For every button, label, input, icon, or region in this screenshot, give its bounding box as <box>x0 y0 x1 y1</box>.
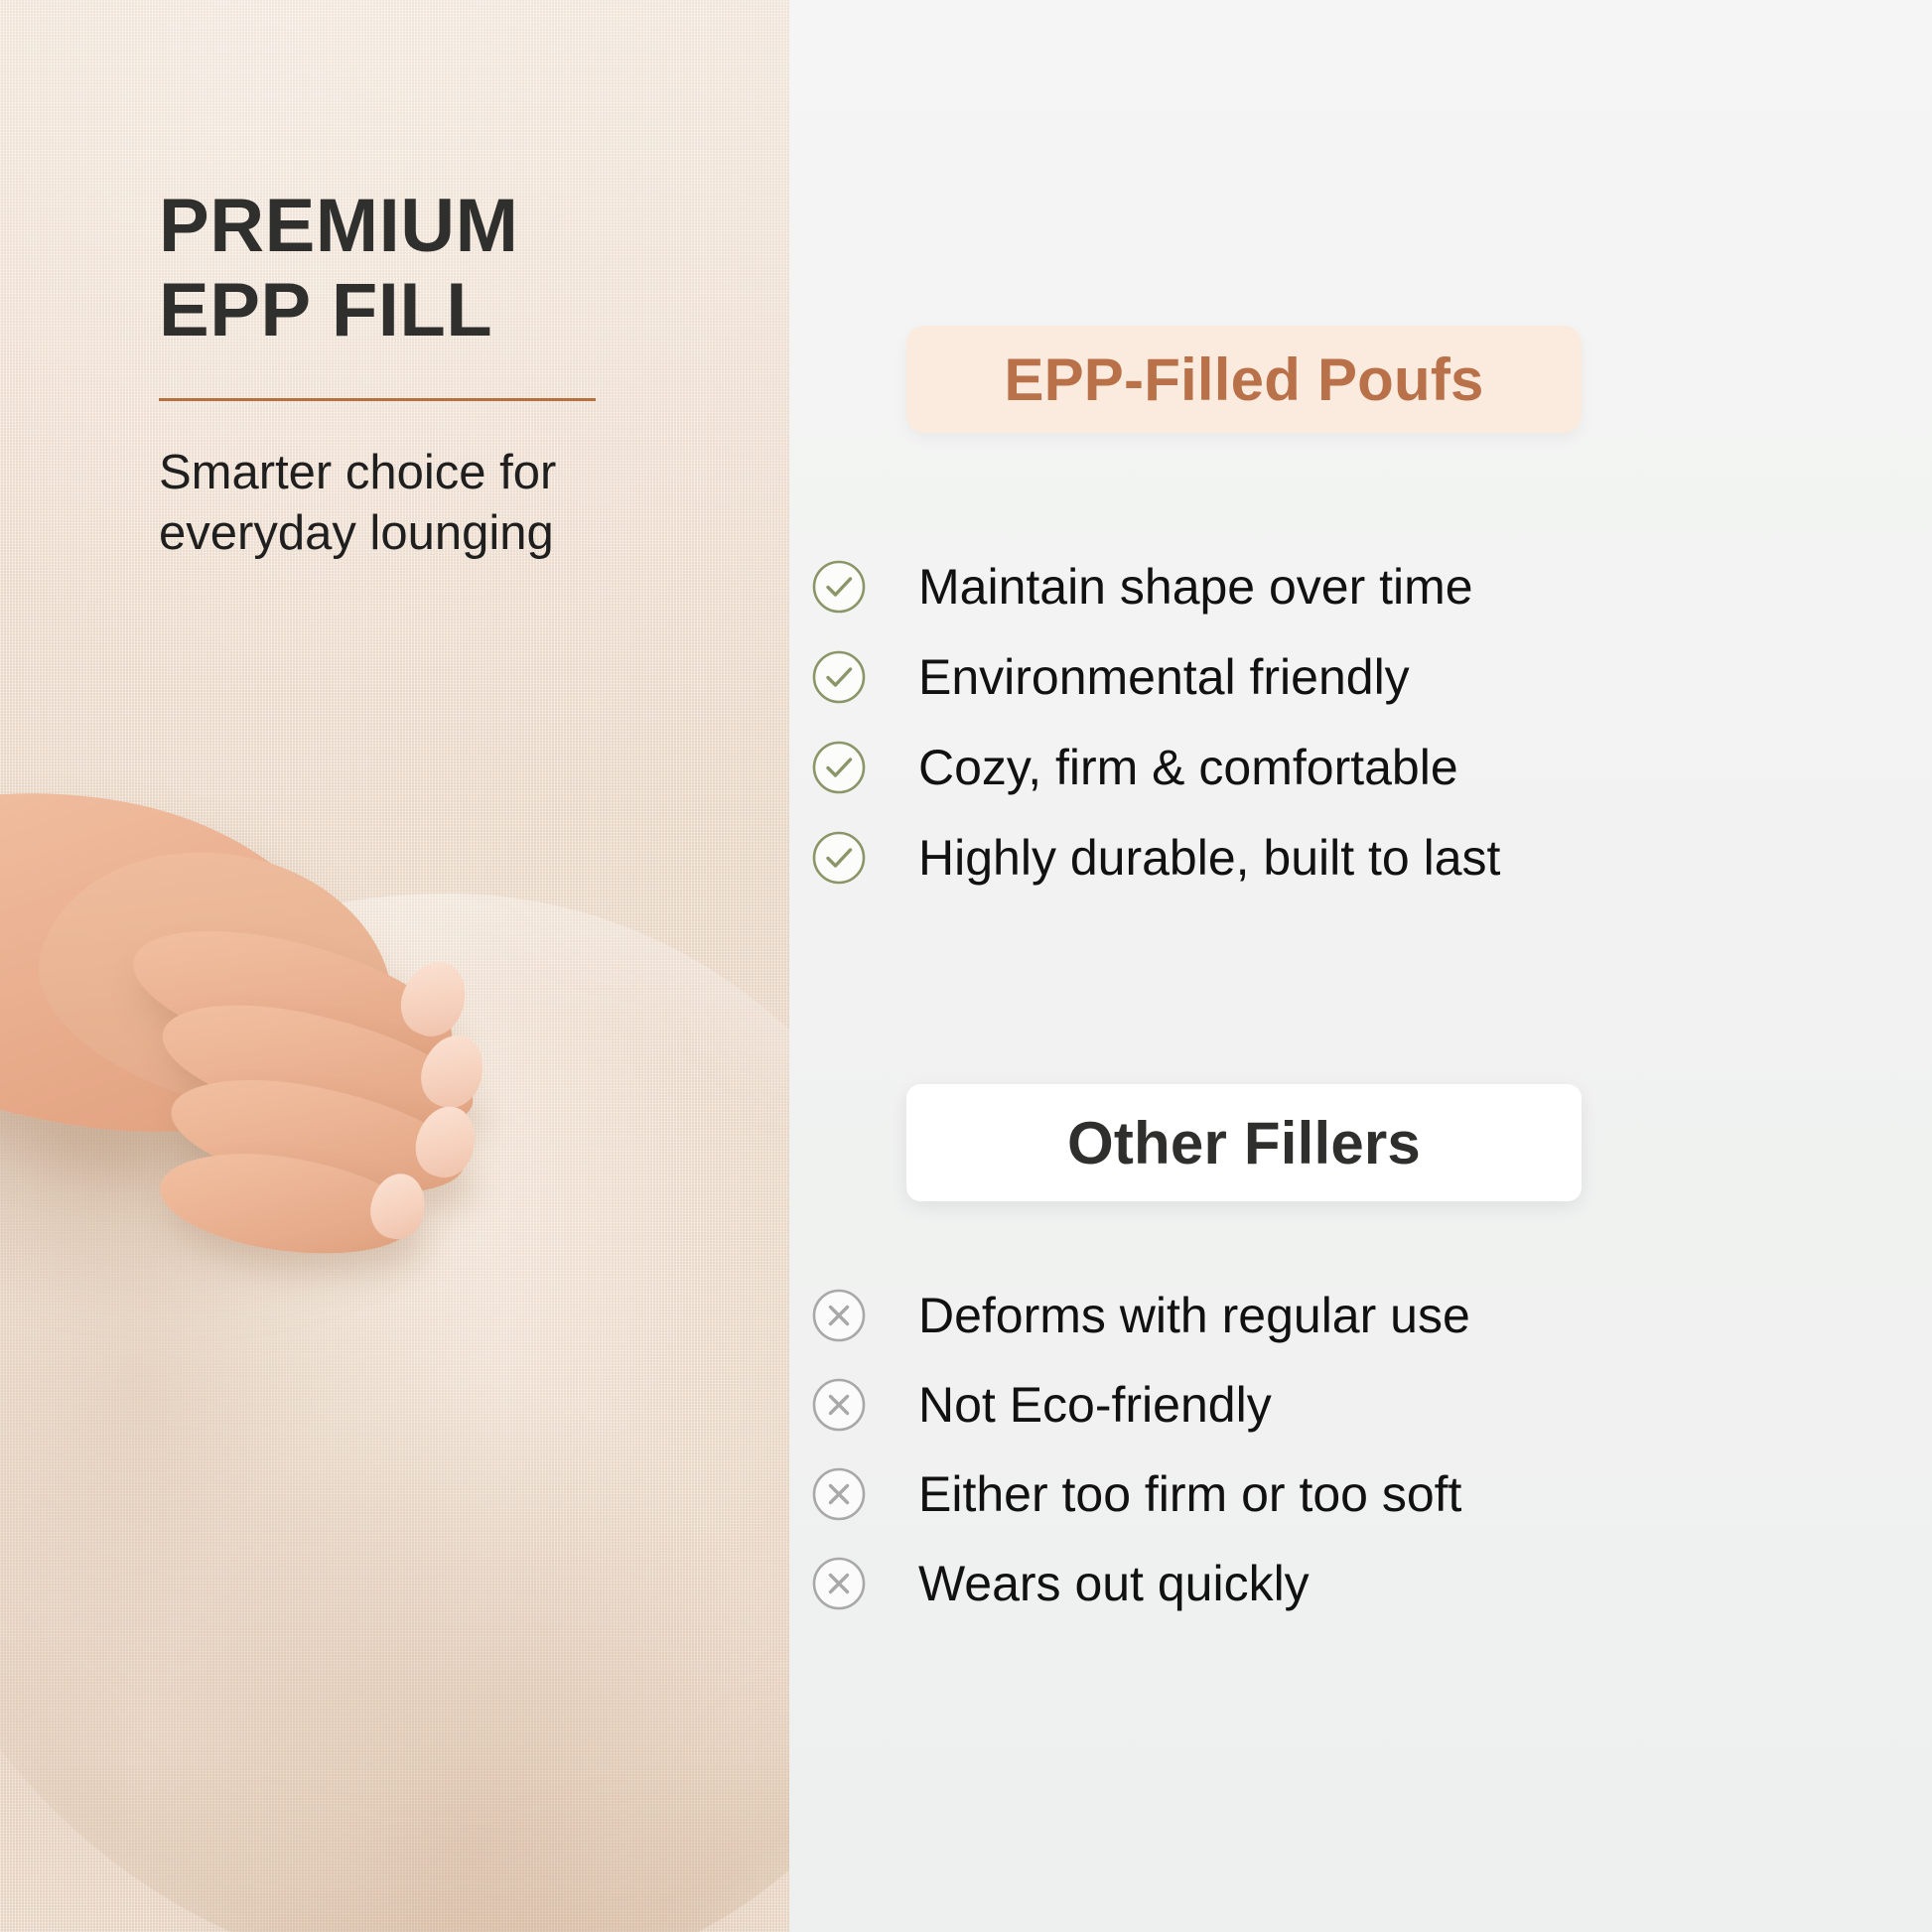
subtitle: Smarter choice for everyday lounging <box>159 443 715 565</box>
title-divider <box>159 398 596 401</box>
pros-item-label: Environmental friendly <box>918 652 1410 702</box>
epp-filled-poufs-badge: EPP-Filled Poufs <box>906 326 1582 433</box>
cons-item-label: Either too firm or too soft <box>918 1469 1461 1519</box>
x-circle-icon <box>811 1556 867 1611</box>
pros-item-label: Cozy, firm & comfortable <box>918 743 1458 792</box>
subtitle-line-2: everyday lounging <box>159 506 554 560</box>
list-item: Cozy, firm & comfortable <box>811 722 1500 812</box>
list-item: Either too firm or too soft <box>811 1449 1470 1539</box>
check-circle-icon <box>811 830 867 886</box>
headline-line-2: EPP FILL <box>159 268 492 352</box>
pros-item-label: Maintain shape over time <box>918 562 1473 612</box>
product-photo-panel: PREMIUM EPP FILL Smarter choice for ever… <box>0 0 789 1932</box>
x-circle-icon <box>811 1466 867 1522</box>
infographic-root: PREMIUM EPP FILL Smarter choice for ever… <box>0 0 1932 1932</box>
x-circle-icon <box>811 1377 867 1433</box>
list-item: Maintain shape over time <box>811 541 1500 631</box>
check-circle-icon <box>811 740 867 795</box>
page-title: PREMIUM EPP FILL <box>159 184 715 352</box>
comparison-panel: EPP-Filled Poufs Maintain shape over tim… <box>789 0 1932 1932</box>
cons-item-label: Wears out quickly <box>918 1559 1310 1608</box>
other-fillers-card: Other Fillers <box>906 1084 1582 1201</box>
cons-item-label: Not Eco-friendly <box>918 1380 1272 1430</box>
hand-pressing-pouf-image <box>0 794 784 1410</box>
x-circle-icon <box>811 1288 867 1343</box>
subtitle-line-1: Smarter choice for <box>159 446 556 499</box>
cons-list: Deforms with regular use Not Eco-friendl… <box>811 1271 1470 1628</box>
epp-filled-poufs-label: EPP-Filled Poufs <box>1004 345 1483 414</box>
pros-item-label: Highly durable, built to last <box>918 833 1500 883</box>
other-fillers-label: Other Fillers <box>1067 1109 1421 1177</box>
list-item: Wears out quickly <box>811 1539 1470 1628</box>
list-item: Not Eco-friendly <box>811 1360 1470 1449</box>
list-item: Highly durable, built to last <box>811 812 1500 902</box>
list-item: Environmental friendly <box>811 631 1500 722</box>
check-circle-icon <box>811 649 867 705</box>
pros-list: Maintain shape over time Environmental f… <box>811 541 1500 902</box>
cons-item-label: Deforms with regular use <box>918 1291 1470 1340</box>
list-item: Deforms with regular use <box>811 1271 1470 1360</box>
headline-line-1: PREMIUM <box>159 184 518 268</box>
headline-block: PREMIUM EPP FILL Smarter choice for ever… <box>159 184 715 565</box>
check-circle-icon <box>811 559 867 615</box>
